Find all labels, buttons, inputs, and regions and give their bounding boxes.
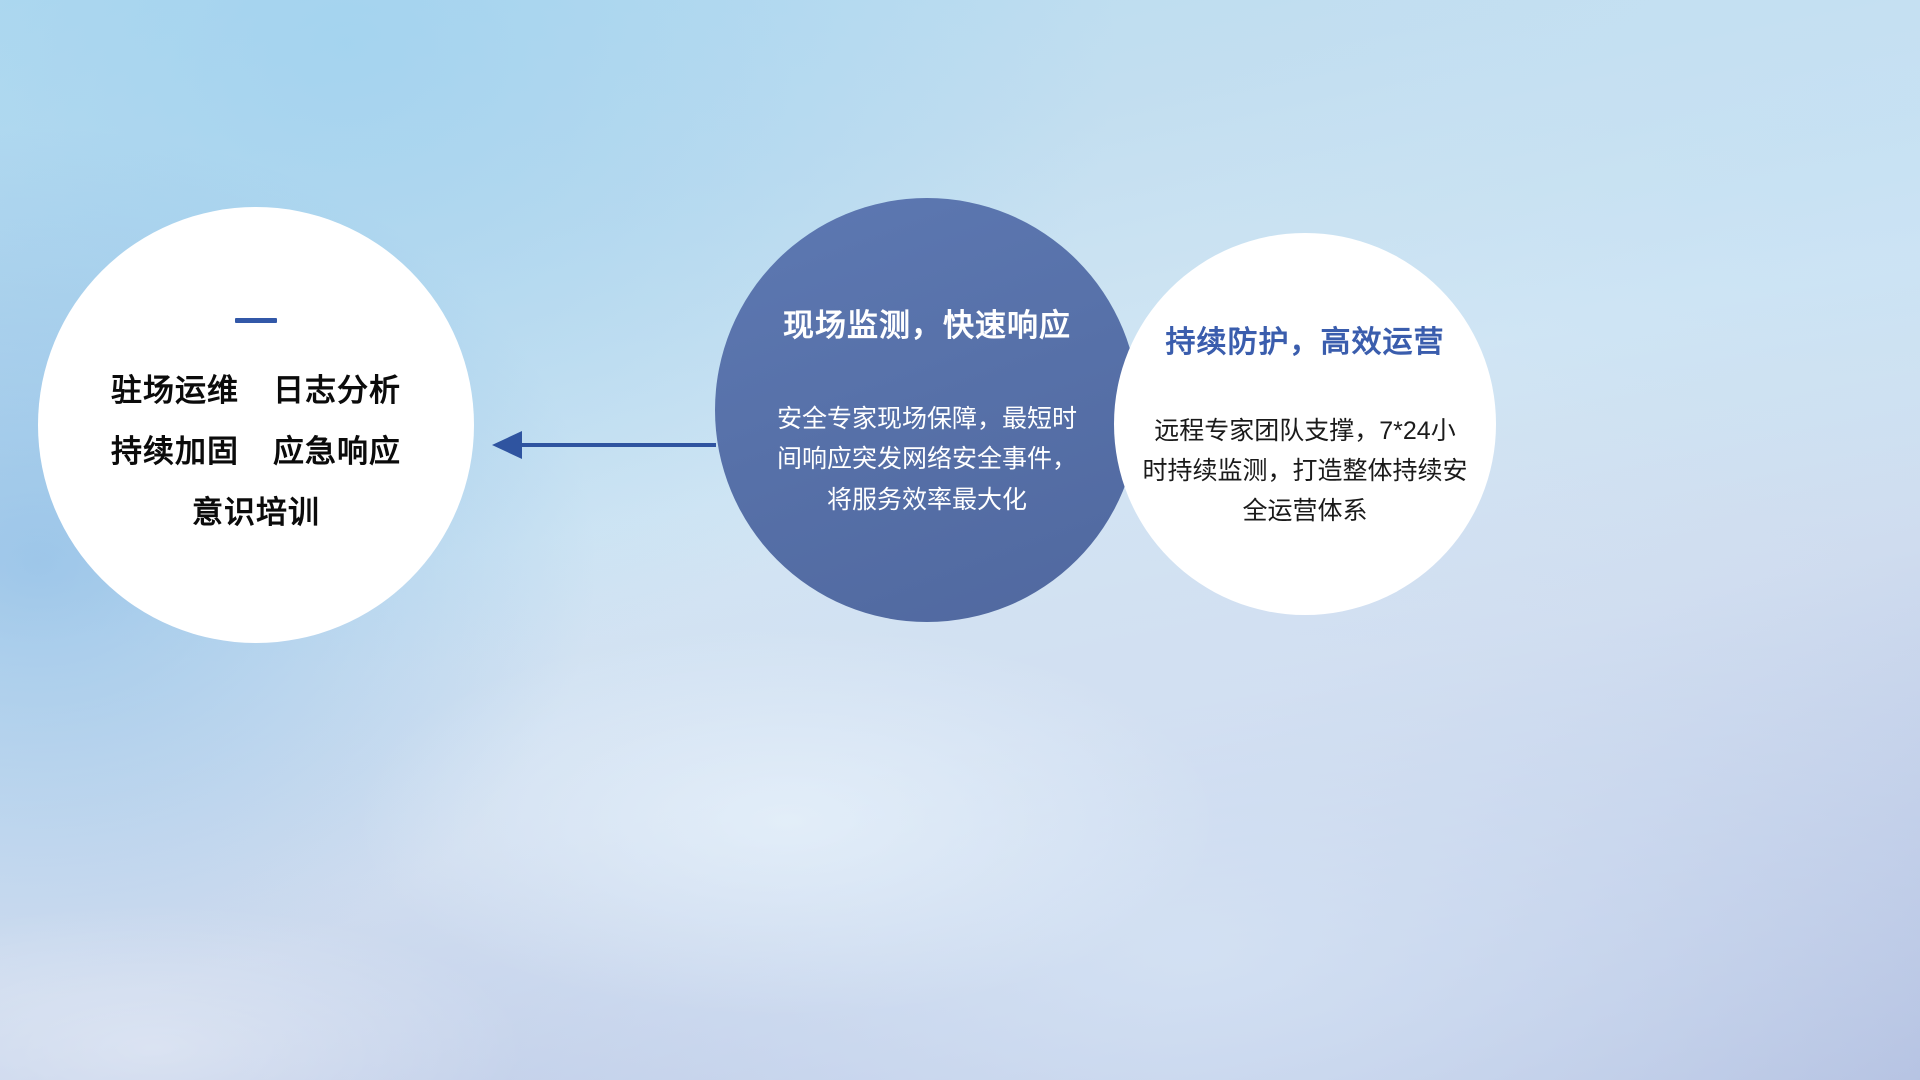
divider-dash — [235, 318, 277, 323]
capability-tag-row: 持续加固 应急响应 — [111, 426, 401, 471]
feature-description: 安全专家现场保障，最短时间响应突发网络安全事件，将服务效率最大化 — [777, 399, 1077, 521]
capability-circle-left: 驻场运维 日志分析 持续加固 应急响应 意识培训 — [38, 207, 474, 643]
capability-tag: 驻场运维 — [111, 365, 239, 410]
capability-tag-list: 驻场运维 日志分析 持续加固 应急响应 意识培训 — [111, 365, 401, 532]
feature-description: 远程专家团队支撑，7*24小时持续监测，打造整体持续安全运营体系 — [1142, 411, 1468, 531]
feature-title: 持续防护，高效运营 — [1166, 317, 1445, 361]
capability-tag-row: 意识培训 — [192, 487, 320, 532]
feature-circle-remote: 持续防护，高效运营 远程专家团队支撑，7*24小时持续监测，打造整体持续安全运营… — [1114, 233, 1496, 615]
capability-tag: 日志分析 — [273, 365, 401, 410]
feature-circle-onsite: 现场监测，快速响应 安全专家现场保障，最短时间响应突发网络安全事件，将服务效率最… — [715, 198, 1139, 622]
slide-canvas: 驻场运维 日志分析 持续加固 应急响应 意识培训 现场监测，快速响应 安全专家现… — [0, 0, 1920, 1080]
capability-tag-row: 驻场运维 日志分析 — [111, 365, 401, 410]
feature-title: 现场监测，快速响应 — [783, 300, 1071, 345]
capability-tag: 持续加固 — [111, 426, 239, 471]
capability-tag: 意识培训 — [192, 487, 320, 532]
flow-arrow-left — [484, 418, 720, 472]
capability-tag: 应急响应 — [273, 426, 401, 471]
